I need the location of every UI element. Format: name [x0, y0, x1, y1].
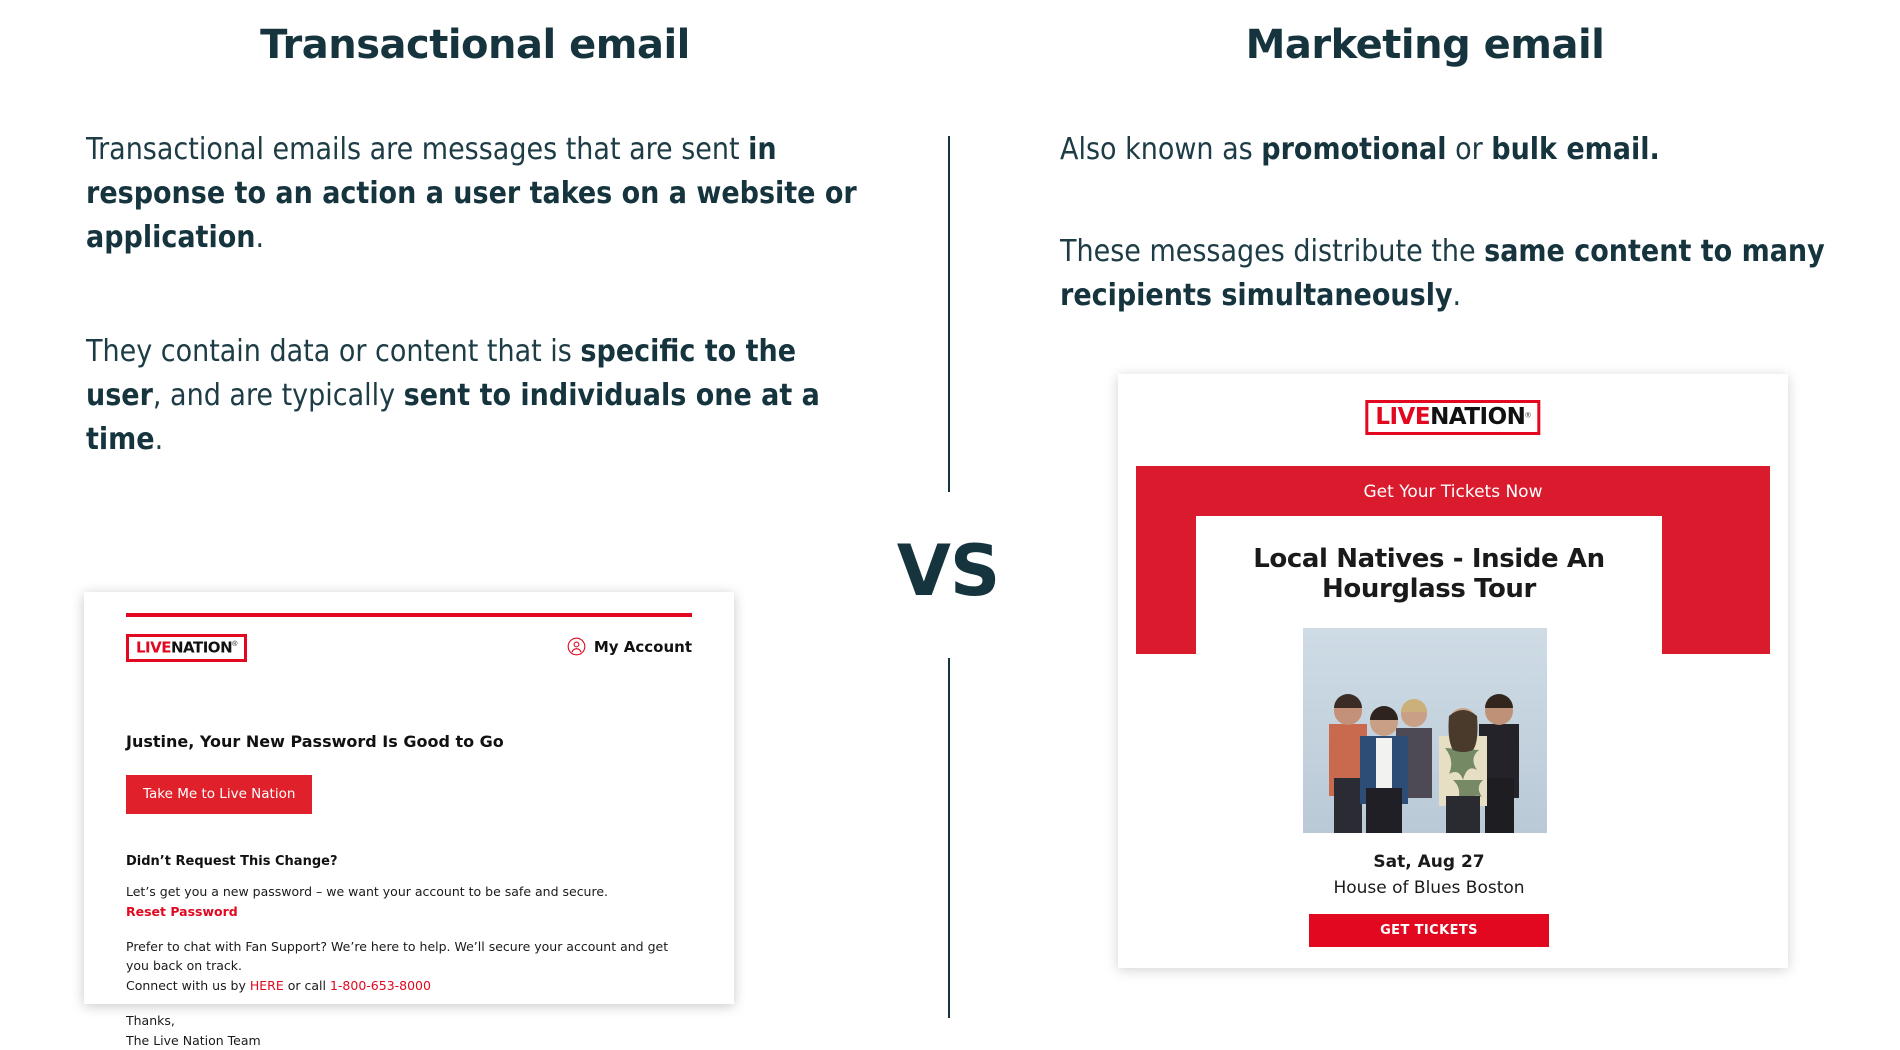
event-venue: House of Blues Boston — [1208, 878, 1650, 898]
mk-para2-text-a: These messages distribute the — [1060, 234, 1484, 269]
logo-nation-text: NATION — [1430, 404, 1525, 430]
get-tickets-button[interactable]: GET TICKETS — [1309, 914, 1549, 947]
body-line-1: Let’s get you a new password – we want y… — [126, 882, 692, 902]
reset-password-link[interactable]: Reset Password — [126, 902, 692, 922]
take-me-to-live-nation-button[interactable]: Take Me to Live Nation — [126, 775, 312, 814]
person-circle-icon — [567, 637, 586, 656]
para1-text-b: . — [255, 220, 264, 255]
email-body: Let’s get you a new password – we want y… — [126, 882, 692, 1050]
logo-trademark: ® — [232, 639, 237, 648]
body-spacer — [126, 922, 692, 937]
logo-trademark: ® — [1525, 411, 1530, 420]
para2-text-a: They contain data or content that is — [86, 334, 580, 369]
mk-para1-text-a: Also known as — [1060, 132, 1261, 167]
comparison-slide: Transactional email Transactional emails… — [0, 0, 1900, 1040]
my-account-link[interactable]: My Account — [567, 637, 692, 656]
top-red-rule — [126, 613, 692, 617]
para2-text-c: . — [155, 422, 164, 457]
body-spacer-2 — [126, 996, 692, 1011]
live-nation-logo: LIVENATION® — [1365, 400, 1540, 435]
band-photo — [1303, 628, 1547, 833]
or-call-text: or call — [284, 978, 330, 993]
logo-live-text: LIVE — [136, 638, 171, 656]
live-nation-logo: LIVENATION® — [126, 634, 247, 662]
body-line-2: Prefer to chat with Fan Support? We’re h… — [126, 937, 692, 977]
email-header: LIVENATION® My Account — [126, 634, 692, 674]
para1-text-a: Transactional emails are messages that a… — [86, 132, 748, 167]
mk-para2-text-b: . — [1453, 278, 1462, 313]
marketing-paragraph-2: These messages distribute the same conte… — [1060, 230, 1880, 318]
band-photo-illustration — [1303, 628, 1547, 833]
transactional-email-card: LIVENATION® My Account Justine, Your New… — [84, 592, 734, 1004]
connect-prefix: Connect with us by — [126, 978, 250, 993]
promo-banner-text: Get Your Tickets Now — [1136, 482, 1770, 502]
email-subject-line: Justine, Your New Password Is Good to Go — [126, 732, 692, 751]
page-title-marketing: Marketing email — [950, 22, 1900, 68]
mk-para1-text-b: or — [1447, 132, 1492, 167]
here-link[interactable]: HERE — [250, 978, 284, 993]
signoff-line-2: The Live Nation Team — [126, 1031, 692, 1050]
body-line-3: Connect with us by HERE or call 1-800-65… — [126, 976, 692, 996]
marketing-paragraph-1: Also known as promotional or bulk email. — [1060, 128, 1880, 172]
my-account-label: My Account — [594, 638, 692, 656]
signoff-line-1: Thanks, — [126, 1011, 692, 1031]
logo-nation-text: NATION — [171, 638, 232, 656]
transactional-paragraph-1: Transactional emails are messages that a… — [86, 128, 866, 259]
promo-content-panel: Local Natives - Inside An Hourglass Tour — [1196, 516, 1662, 940]
logo-live-text: LIVE — [1375, 404, 1430, 430]
transactional-column: Transactional email Transactional emails… — [0, 0, 950, 1040]
event-date: Sat, Aug 27 — [1208, 852, 1650, 872]
marketing-email-card: LIVENATION® Get Your Tickets Now Local N… — [1118, 374, 1788, 968]
marketing-email-header: LIVENATION® — [1118, 374, 1788, 466]
page-title-transactional: Transactional email — [0, 22, 950, 68]
para2-text-b: , and are typically — [153, 378, 404, 413]
didnt-request-heading: Didn’t Request This Change? — [126, 854, 692, 869]
mk-para1-bold-b: bulk email. — [1491, 132, 1660, 167]
support-phone-link[interactable]: 1-800-653-8000 — [330, 978, 431, 993]
transactional-paragraph-2: They contain data or content that is spe… — [86, 330, 876, 461]
mk-para1-bold-a: promotional — [1261, 132, 1446, 167]
event-title: Local Natives - Inside An Hourglass Tour — [1208, 544, 1650, 604]
